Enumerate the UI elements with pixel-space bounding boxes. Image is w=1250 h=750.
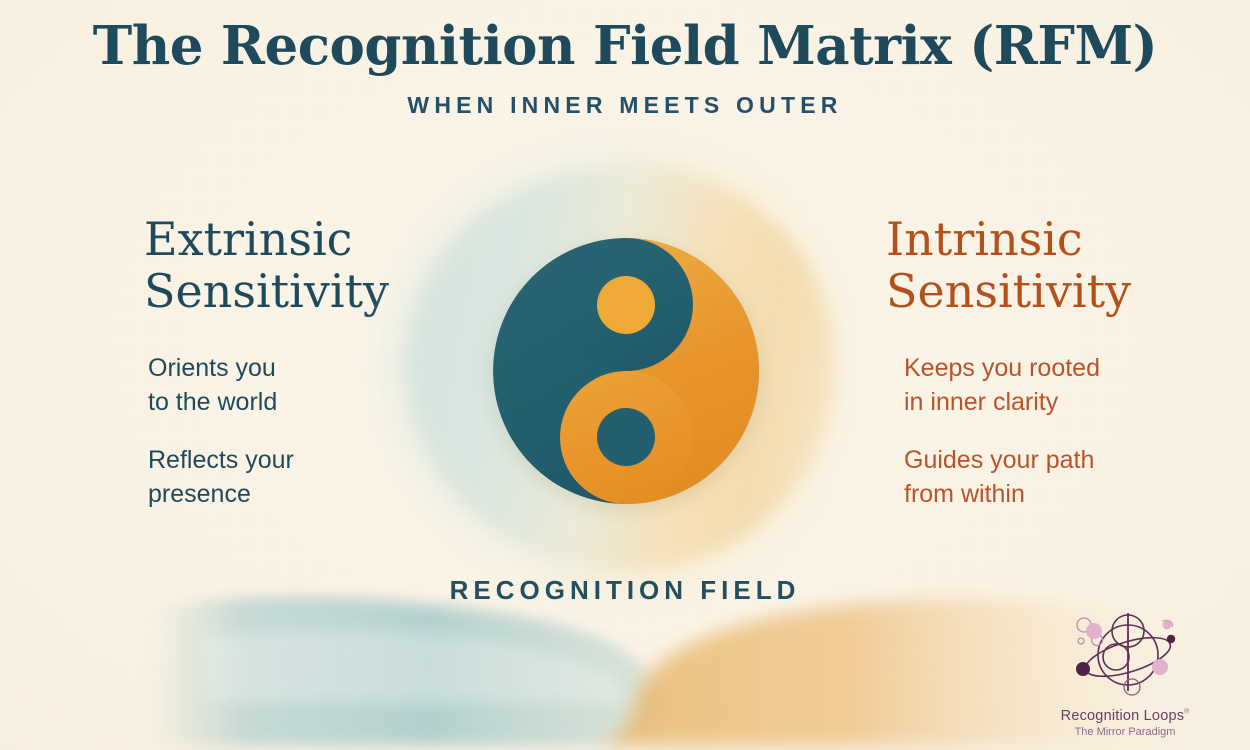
extrinsic-heading: Extrinsic Sensitivity <box>82 214 382 317</box>
column-extrinsic: Extrinsic Sensitivity Orients you to the… <box>82 214 382 535</box>
column-intrinsic: Intrinsic Sensitivity Keeps you rooted i… <box>872 214 1172 535</box>
brand-logo: Recognition Loops® The Mirror Paradigm <box>1030 595 1220 738</box>
brand-name: Recognition Loops <box>1061 708 1185 724</box>
brand-name-row: Recognition Loops® <box>1030 707 1220 725</box>
recognition-field-emblem: RECOGNITION FIELD <box>390 160 860 580</box>
page-subtitle: WHEN INNER MEETS OUTER <box>0 92 1250 119</box>
poster-header: The Recognition Field Matrix (RFM) WHEN … <box>0 18 1250 119</box>
extrinsic-point-2: Reflects your presence <box>82 443 382 511</box>
poster-canvas: The Recognition Field Matrix (RFM) WHEN … <box>0 0 1250 750</box>
extrinsic-point-1: Orients you to the world <box>82 351 382 419</box>
registered-mark: ® <box>1184 709 1189 716</box>
yang-eye-dot <box>597 276 655 334</box>
intrinsic-point-1: Keeps you rooted in inner clarity <box>872 351 1172 419</box>
brand-tagline: The Mirror Paradigm <box>1030 726 1220 738</box>
intrinsic-point-2: Guides your path from within <box>872 443 1172 511</box>
yin-eye-dot <box>597 408 655 466</box>
orbital-loops-logo-icon <box>1050 595 1200 707</box>
emblem-caption: RECOGNITION FIELD <box>390 575 860 606</box>
yin-yang-icon <box>493 238 759 504</box>
page-title: The Recognition Field Matrix (RFM) <box>0 18 1250 74</box>
intrinsic-heading: Intrinsic Sensitivity <box>872 214 1172 317</box>
